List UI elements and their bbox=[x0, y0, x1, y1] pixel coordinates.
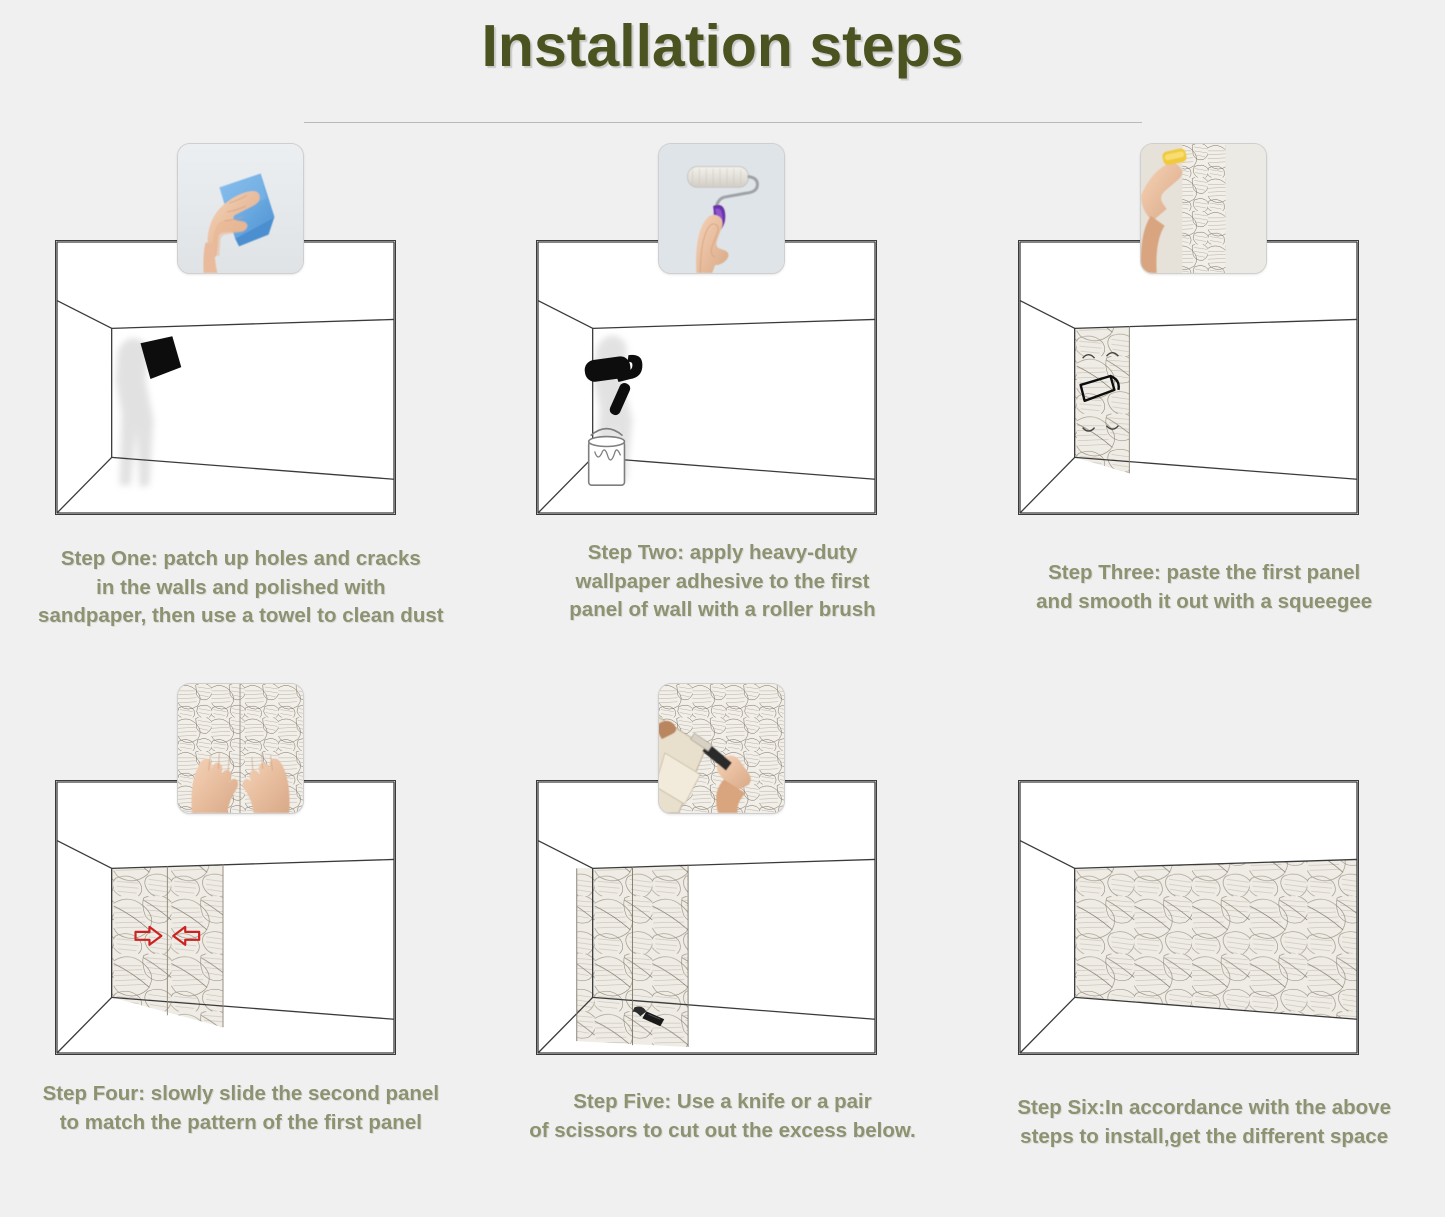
room-diagram-roller-and-paint-bucket bbox=[536, 240, 877, 515]
step-card-three: Step Three: paste the first panel and sm… bbox=[963, 135, 1445, 675]
step-three-illustration bbox=[1004, 135, 1404, 535]
room-diagram-first-panel-applied bbox=[1018, 240, 1359, 515]
step-card-five: Step Five: Use a knife or a pair of scis… bbox=[482, 675, 964, 1215]
step-one-caption: Step One: patch up holes and cracks in t… bbox=[26, 545, 456, 631]
step-five-caption: Step Five: Use a knife or a pair of scis… bbox=[507, 1088, 937, 1145]
step-six-illustration bbox=[1004, 675, 1404, 1070]
room-diagram-trim-excess-below bbox=[536, 780, 877, 1055]
photo-hand-wiping-wall-with-blue-cloth bbox=[177, 143, 304, 274]
room-diagram-two-panels-with-match-arrows bbox=[55, 780, 396, 1055]
photo-hand-cutting-wallpaper-with-knife bbox=[658, 683, 785, 814]
step-card-six: Step Six:In accordance with the above st… bbox=[963, 675, 1445, 1215]
installation-steps-grid: Step One: patch up holes and cracks in t… bbox=[0, 135, 1445, 1215]
page-title: Installation steps bbox=[0, 0, 1445, 80]
room-diagram-finished-wall-fully-papered bbox=[1018, 780, 1359, 1055]
step-two-caption: Step Two: apply heavy-duty wallpaper adh… bbox=[507, 539, 937, 625]
step-card-two: Step Two: apply heavy-duty wallpaper adh… bbox=[482, 135, 964, 675]
photo-arm-smoothing-wallpaper-with-sponge bbox=[1140, 143, 1267, 274]
photo-hand-holding-paint-roller bbox=[658, 143, 785, 274]
step-six-caption: Step Six:In accordance with the above st… bbox=[989, 1094, 1419, 1151]
step-five-illustration bbox=[522, 675, 922, 1070]
step-one-illustration bbox=[41, 135, 441, 535]
step-four-caption: Step Four: slowly slide the second panel… bbox=[26, 1080, 456, 1137]
photo-two-hands-matching-wallpaper-seam bbox=[177, 683, 304, 814]
step-card-four: Step Four: slowly slide the second panel… bbox=[0, 675, 482, 1215]
step-three-caption: Step Three: paste the first panel and sm… bbox=[989, 559, 1419, 616]
step-four-illustration bbox=[41, 675, 441, 1070]
title-divider bbox=[304, 122, 1142, 123]
room-diagram-empty-wall-with-sandpaper bbox=[55, 240, 396, 515]
step-card-one: Step One: patch up holes and cracks in t… bbox=[0, 135, 482, 675]
step-two-illustration bbox=[522, 135, 922, 535]
